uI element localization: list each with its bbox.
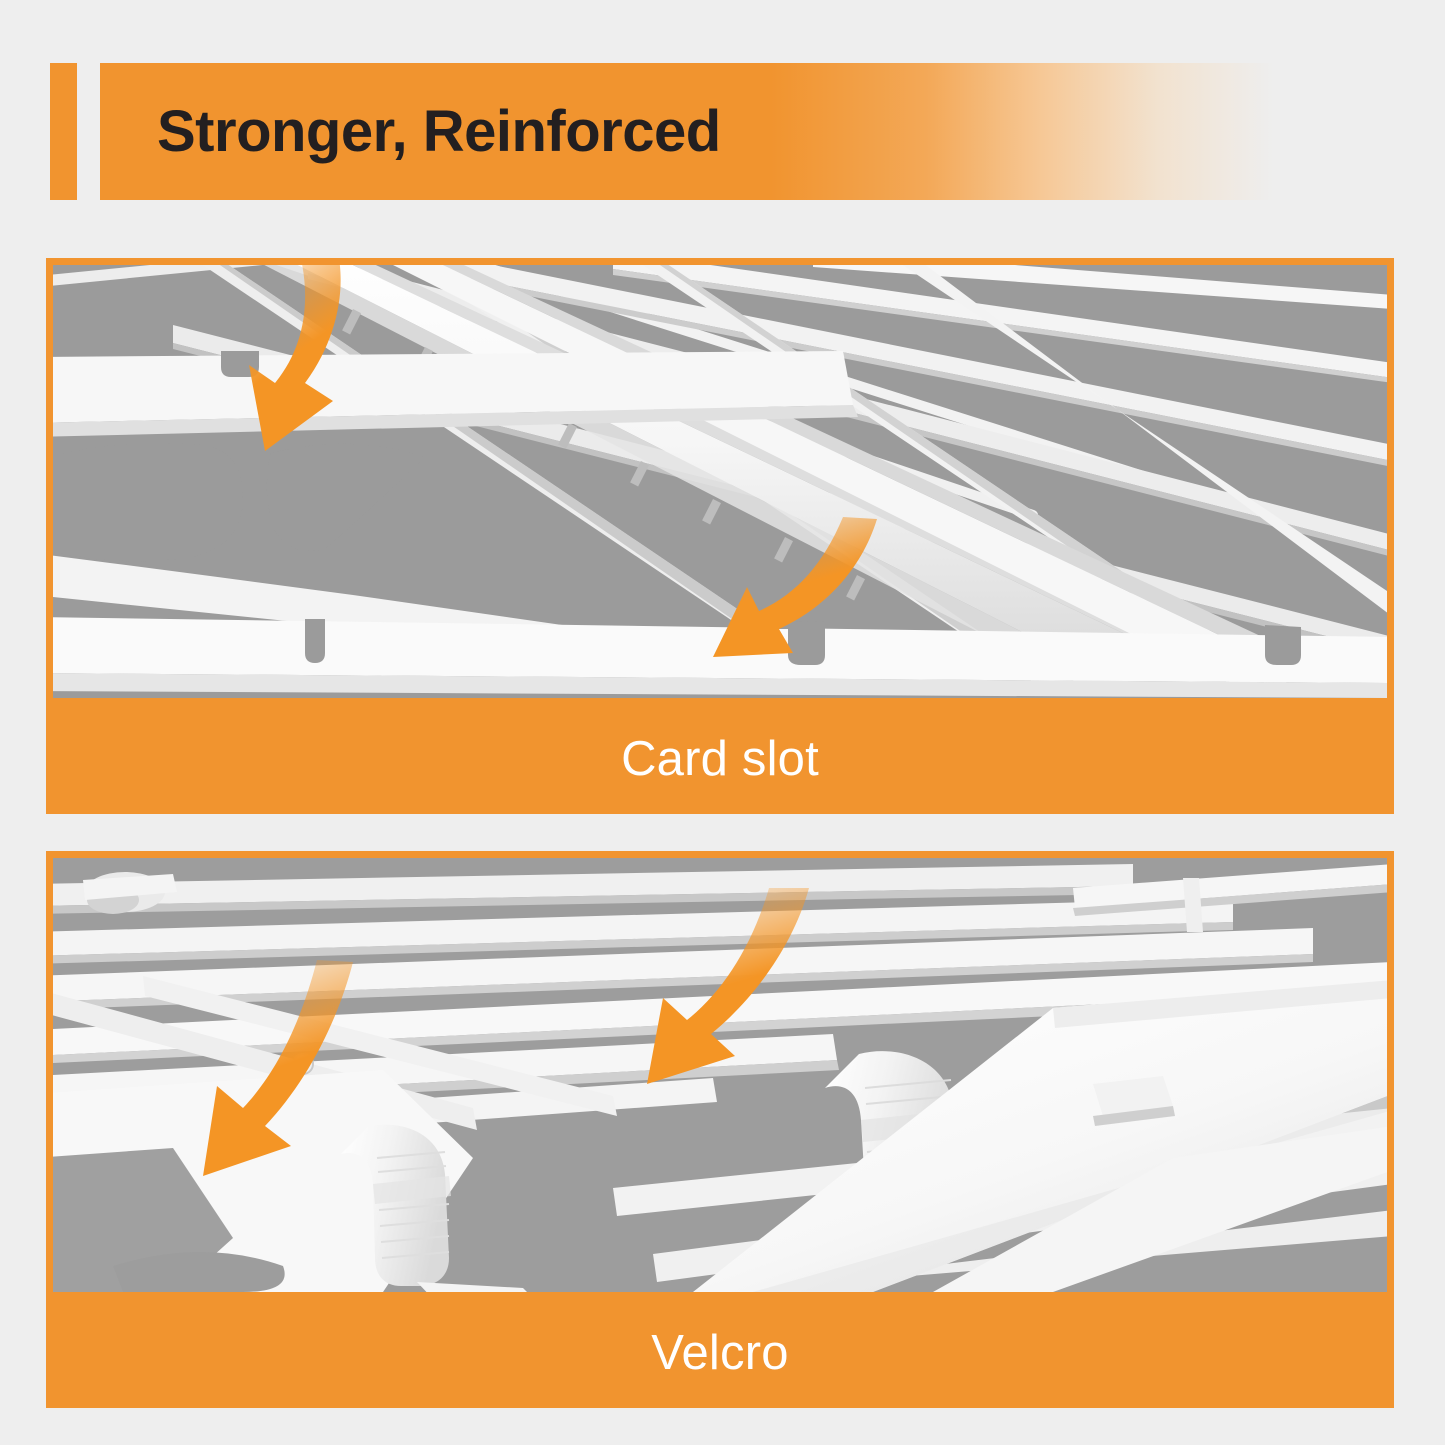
velcro-illustration <box>53 858 1387 1292</box>
header-accent-bar <box>50 63 77 200</box>
caption-label-card-slot: Card slot <box>621 735 819 784</box>
feature-photo-velcro <box>46 851 1394 1299</box>
feature-caption-velcro: Velcro <box>46 1299 1394 1408</box>
card-slot-illustration <box>53 265 1387 698</box>
feature-card-card-slot: Card slot <box>46 258 1394 814</box>
infographic-page: Stronger, Reinforced <box>0 0 1445 1445</box>
header-banner: Stronger, Reinforced <box>100 63 1390 200</box>
page-header: Stronger, Reinforced <box>0 0 1445 230</box>
feature-card-velcro: Velcro <box>46 851 1394 1408</box>
page-title: Stronger, Reinforced <box>157 103 721 161</box>
caption-label-velcro: Velcro <box>651 1329 788 1378</box>
feature-caption-card-slot: Card slot <box>46 705 1394 814</box>
feature-photo-card-slot <box>46 258 1394 705</box>
